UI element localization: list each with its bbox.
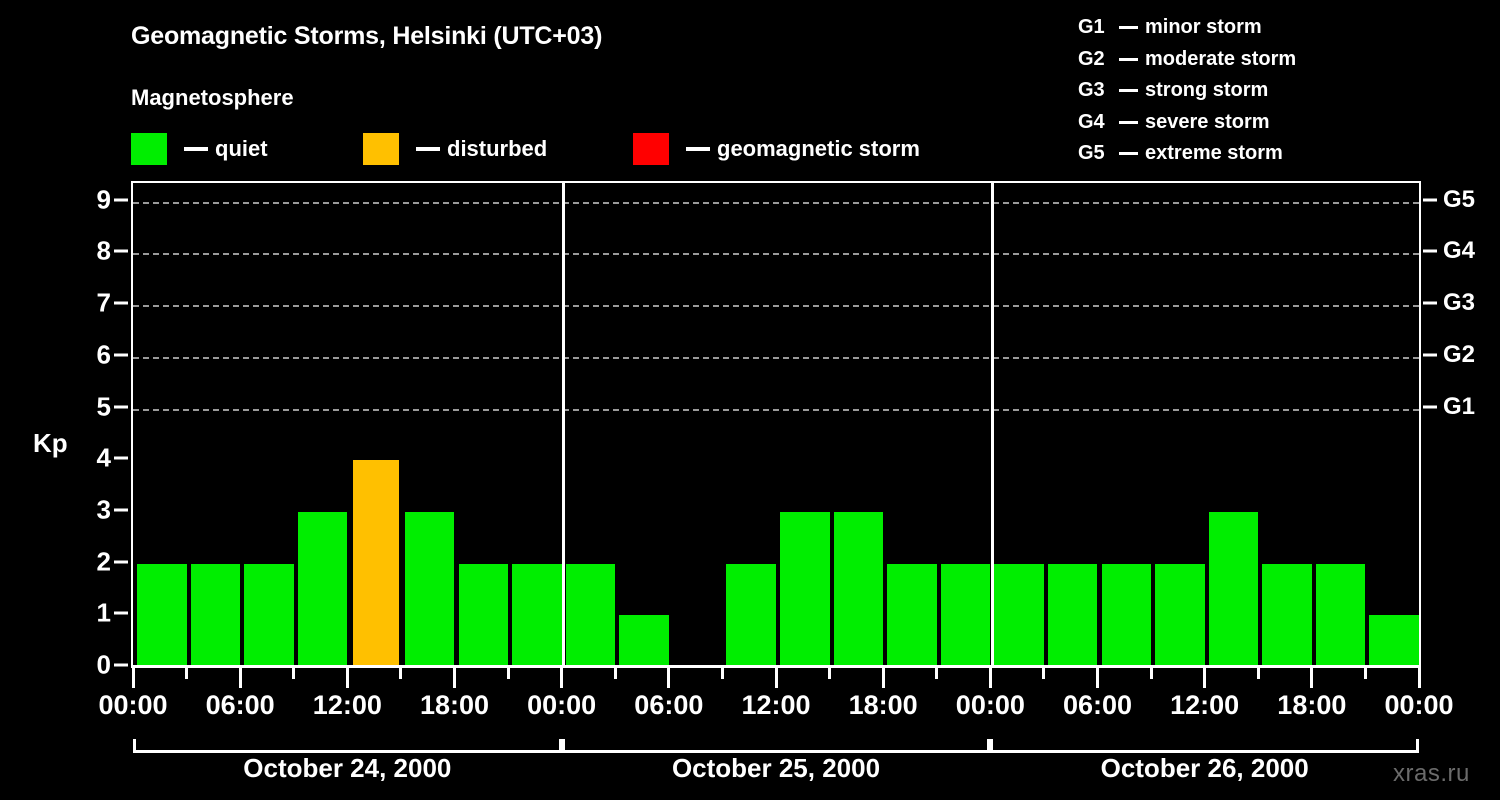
x-tick-label: 12:00 <box>313 690 382 721</box>
x-tick-minor <box>1257 668 1260 679</box>
legend-label: geomagnetic storm <box>717 136 920 162</box>
bar <box>994 564 1044 667</box>
day-caption: October 25, 2000 <box>672 753 880 784</box>
g-scale-dash-icon <box>1119 121 1138 124</box>
g-scale-description: strong storm <box>1145 79 1268 102</box>
y-tick-label-9: 9 <box>71 184 111 215</box>
x-tick-minor <box>507 668 510 679</box>
bar <box>405 512 455 667</box>
y-tick-mark <box>114 664 128 667</box>
day-bracket <box>562 739 991 753</box>
gridline-kp-7 <box>133 305 1419 307</box>
x-tick-major <box>453 668 456 688</box>
x-tick-minor <box>185 668 188 679</box>
x-tick-minor <box>399 668 402 679</box>
bar <box>619 615 669 667</box>
gridline-kp-9 <box>133 202 1419 204</box>
g-scale-dash-icon <box>1119 152 1138 155</box>
bar <box>566 564 616 667</box>
x-tick-label: 00:00 <box>527 690 596 721</box>
bar <box>887 564 937 667</box>
bar <box>1048 564 1098 667</box>
bar <box>726 564 776 667</box>
y-tick-label-3: 3 <box>71 494 111 525</box>
bar <box>459 564 509 667</box>
chart-root: Geomagnetic Storms, Helsinki (UTC+03) Ma… <box>0 0 1500 800</box>
legend-dash-icon <box>184 147 208 151</box>
y-tick-label-2: 2 <box>71 546 111 577</box>
x-tick-major <box>346 668 349 688</box>
bar <box>512 564 562 667</box>
y-tick-label-6: 6 <box>71 339 111 370</box>
g-tick-mark <box>1423 353 1437 356</box>
plot-inner <box>133 183 1419 667</box>
y-tick-mark <box>114 302 128 305</box>
bar <box>298 512 348 667</box>
x-tick-minor <box>935 668 938 679</box>
g-tick-label-G4: G4 <box>1443 237 1475 265</box>
y-tick-label-7: 7 <box>71 288 111 319</box>
g-tick-mark <box>1423 302 1437 305</box>
x-tick-label: 00:00 <box>98 690 167 721</box>
bar <box>1155 564 1205 667</box>
x-tick-minor <box>1150 668 1153 679</box>
y-tick-label-4: 4 <box>71 443 111 474</box>
g-scale-code: G1 <box>1078 16 1112 39</box>
bar <box>780 512 830 667</box>
g-scale-code: G4 <box>1078 111 1112 134</box>
g-scale-dash-icon <box>1119 26 1138 29</box>
x-tick-major <box>1418 668 1421 688</box>
x-tick-label: 18:00 <box>420 690 489 721</box>
x-tick-major <box>239 668 242 688</box>
g-scale-dash-icon <box>1119 58 1138 61</box>
g-scale-description: minor storm <box>1145 16 1262 39</box>
g-tick-mark <box>1423 250 1437 253</box>
x-tick-major <box>1203 668 1206 688</box>
bar <box>137 564 187 667</box>
x-tick-minor <box>614 668 617 679</box>
g-scale-legend: G1minor stormG2moderate stormG3strong st… <box>1078 12 1296 170</box>
legend-label: disturbed <box>447 136 547 162</box>
y-tick-mark <box>114 250 128 253</box>
g-scale-row-G1: G1minor storm <box>1078 12 1296 44</box>
x-tick-label: 00:00 <box>1384 690 1453 721</box>
g-scale-code: G3 <box>1078 79 1112 102</box>
g-scale-description: moderate storm <box>1145 48 1296 71</box>
legend-item-geomagnetic-storm: geomagnetic storm <box>633 133 920 165</box>
bar <box>1316 564 1366 667</box>
g-scale-dash-icon <box>1119 89 1138 92</box>
g-scale-code: G5 <box>1078 142 1112 165</box>
page-title: Geomagnetic Storms, Helsinki (UTC+03) <box>131 22 602 51</box>
bar <box>353 460 399 667</box>
day-separator <box>562 183 565 667</box>
gridline-kp-5 <box>133 409 1419 411</box>
watermark: xras.ru <box>1393 760 1470 788</box>
bar <box>834 512 884 667</box>
y-tick-label-8: 8 <box>71 236 111 267</box>
x-tick-label: 18:00 <box>849 690 918 721</box>
day-bracket <box>133 739 562 753</box>
legend-swatch-icon <box>363 133 399 165</box>
bar <box>1209 512 1259 667</box>
g-tick-mark <box>1423 198 1437 201</box>
legend-dash-icon <box>416 147 440 151</box>
bar <box>941 564 991 667</box>
y-tick-label-0: 0 <box>71 650 111 681</box>
plot-area <box>131 181 1421 667</box>
y-tick-mark <box>114 405 128 408</box>
y-tick-mark <box>114 353 128 356</box>
bar <box>191 564 241 667</box>
legend-item-quiet: quiet <box>131 133 268 165</box>
x-tick-major <box>132 668 135 688</box>
gridline-kp-6 <box>133 357 1419 359</box>
x-tick-minor <box>721 668 724 679</box>
x-tick-minor <box>1364 668 1367 679</box>
g-tick-label-G5: G5 <box>1443 186 1475 214</box>
bar <box>244 564 294 667</box>
g-scale-code: G2 <box>1078 48 1112 71</box>
x-tick-label: 12:00 <box>1170 690 1239 721</box>
x-tick-minor <box>292 668 295 679</box>
g-tick-mark <box>1423 405 1437 408</box>
gridline-kp-8 <box>133 253 1419 255</box>
bar <box>1262 564 1312 667</box>
x-tick-major <box>1310 668 1313 688</box>
legend-dash-icon <box>686 147 710 151</box>
legend-swatch-icon <box>633 133 669 165</box>
x-tick-minor <box>828 668 831 679</box>
series-title: Magnetosphere <box>131 85 294 111</box>
legend-item-disturbed: disturbed <box>363 133 547 165</box>
y-tick-label-5: 5 <box>71 391 111 422</box>
day-caption: October 24, 2000 <box>243 753 451 784</box>
day-separator <box>991 183 994 667</box>
g-tick-label-G2: G2 <box>1443 341 1475 369</box>
x-tick-minor <box>1042 668 1045 679</box>
x-tick-label: 00:00 <box>956 690 1025 721</box>
x-tick-major <box>1096 668 1099 688</box>
g-tick-label-G3: G3 <box>1443 289 1475 317</box>
legend-swatch-icon <box>131 133 167 165</box>
y-tick-mark <box>114 457 128 460</box>
day-caption: October 26, 2000 <box>1101 753 1309 784</box>
bar <box>1102 564 1152 667</box>
legend-label: quiet <box>215 136 268 162</box>
y-tick-mark <box>114 560 128 563</box>
g-scale-row-G4: G4severe storm <box>1078 107 1296 139</box>
g-scale-description: extreme storm <box>1145 142 1283 165</box>
x-tick-label: 06:00 <box>634 690 703 721</box>
bar <box>1369 615 1419 667</box>
x-tick-major <box>882 668 885 688</box>
x-tick-major <box>989 668 992 688</box>
g-tick-label-G1: G1 <box>1443 393 1475 421</box>
y-tick-label-1: 1 <box>71 598 111 629</box>
x-tick-major <box>667 668 670 688</box>
g-scale-row-G5: G5extreme storm <box>1078 138 1296 170</box>
x-tick-label: 06:00 <box>1063 690 1132 721</box>
y-tick-mark <box>114 198 128 201</box>
x-tick-label: 06:00 <box>206 690 275 721</box>
x-tick-major <box>775 668 778 688</box>
g-scale-row-G2: G2moderate storm <box>1078 44 1296 76</box>
x-tick-major <box>560 668 563 688</box>
x-tick-label: 12:00 <box>741 690 810 721</box>
y-tick-mark <box>114 612 128 615</box>
day-bracket <box>990 739 1419 753</box>
x-tick-label: 18:00 <box>1277 690 1346 721</box>
g-scale-description: severe storm <box>1145 111 1270 134</box>
y-axis-title: Kp <box>33 428 68 459</box>
y-tick-mark <box>114 508 128 511</box>
g-scale-row-G3: G3strong storm <box>1078 75 1296 107</box>
